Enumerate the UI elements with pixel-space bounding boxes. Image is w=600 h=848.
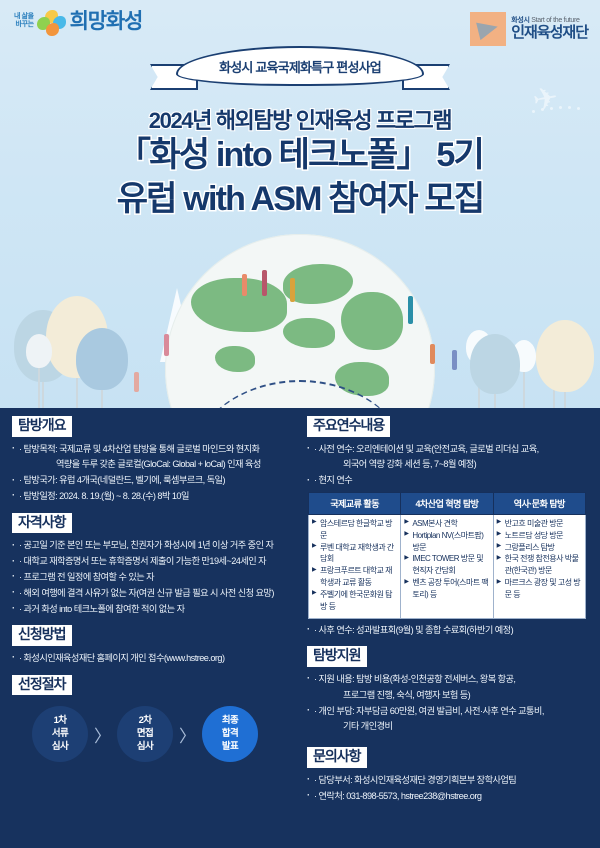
list-item: · 해외 여행에 결격 사유가 없는 자(여권 신규 발급 필요 시 사전 신청…: [12, 586, 293, 602]
poster-header: 내 삶을 바꾸는 희망화성 화성시 Start of the future 인재…: [0, 0, 600, 408]
process-step-3-line1: 최종: [222, 715, 238, 728]
section-heading-contact: 문의사항: [307, 747, 367, 768]
poster-title-block: 2024년 해외탐방 인재육성 프로그램 「화성 into 테크노폴」 5기 유…: [0, 108, 600, 220]
person-figure: [262, 270, 267, 296]
paper-plane-icon: [470, 12, 506, 46]
chevron-right-icon: 〉: [179, 722, 196, 747]
list-item: · 사후 연수: 성과발표회(9월) 및 종합 수료회(하반기 예정): [307, 623, 588, 639]
right-column: 주요연수내용 · 사전 연수: 오리엔테이션 및 교육(안전교육, 글로벌 리더…: [305, 414, 590, 806]
balloon-tree: [76, 328, 128, 408]
logo-left-kicker-line2: 바꾸는: [14, 21, 34, 29]
list-item: 암스테르담 한글학교 방문: [312, 518, 397, 542]
logo-right-org: 인재육성재단: [511, 25, 588, 42]
support-list: · 지원 내용: 탐방 비용(화성-인천공항 전세버스, 왕복 항공, 프로그램…: [305, 672, 590, 735]
logo-right-city: 화성시: [511, 17, 529, 24]
list-item: 프랑크푸르트 대학교 재학생과 교류 활동: [312, 565, 397, 589]
person-figure: [290, 278, 295, 302]
person-figure: [242, 274, 247, 296]
ribbon-banner: 화성시 교육국제화특구 편성사업: [150, 46, 450, 96]
title-line-1: 2024년 해외탐방 인재육성 프로그램: [0, 108, 600, 133]
process-step-1-line1: 1차: [54, 715, 67, 728]
list-item: 노트르담 성당 방문: [497, 530, 582, 542]
training-table: 국제교류 활동 4차산업 혁명 탐방 역사·문화 탐방 암스테르담 한글학교 방…: [308, 492, 586, 619]
list-item: · 개인 부담: 자부담금 60만원, 여권 발급비, 사전·사후 연수 교통비…: [307, 704, 588, 720]
person-figure: [164, 334, 169, 356]
list-item: 한국 전쟁 참전용사 박물관(한국관) 방문: [497, 553, 582, 577]
list-item: · 대학교 재학증명서 또는 휴학증명서 제출이 가능한 만19세~24세인 자: [12, 554, 293, 570]
table-header-row: 국제교류 활동 4차산업 혁명 탐방 역사·문화 탐방: [309, 492, 586, 514]
process-step-1-line2: 서류: [52, 728, 68, 741]
overview-list: · 탐방목적: 국제교류 및 4차산업 탐방을 통해 글로벌 마인드와 현지화 …: [10, 442, 295, 505]
logo-left-brand: 희망화성: [70, 11, 142, 32]
table-cell-exchange: 암스테르담 한글학교 방문 루벤 대학교 재학생과 간담회 프랑크푸르트 대학교…: [309, 514, 401, 618]
foundation-logo: 화성시 Start of the future 인재육성재단: [470, 12, 588, 46]
list-item: 역량을 두루 갖춘 글로컬(GloCal: Global + loCal) 인재…: [12, 457, 293, 473]
poster-body: 탐방개요 · 탐방목적: 국제교류 및 4차산업 탐방을 통해 글로벌 마인드와…: [0, 408, 600, 848]
list-item: · 프로그램 전 일정에 참여할 수 있는 자: [12, 570, 293, 586]
title-line-2: 「화성 into 테크노폴」 5기: [0, 135, 600, 176]
list-item: 외국어 역량 강화 세션 등, 7~8월 예정): [307, 457, 588, 473]
list-item: · 담당부서: 화성시인재육성재단 경영기획본부 장학사업팀: [307, 773, 588, 789]
list-item: · 탐방일정: 2024. 8. 19.(월) ~ 8. 28.(수) 8박 1…: [12, 489, 293, 505]
table-cell-culture: 반고흐 미술관 방문 노트르담 성당 방문 그랑플리스 탐방 한국 전쟁 참전용…: [493, 514, 585, 618]
table-cell-industry: ASM본사 견학 Hortiplan NV(스마트팜) 방문 IMEC TOWE…: [401, 514, 493, 618]
apply-list: · 화성시인재육성재단 홈페이지 개인 접수(www.hstree.org): [10, 651, 295, 667]
hwaseong-city-logo: 내 삶을 바꾸는 희망화성: [14, 10, 142, 32]
process-step-2-line3: 심사: [137, 741, 153, 754]
list-item: · 공고일 기준 본인 또는 부모님, 친권자가 화성시에 1년 이상 거주 중…: [12, 538, 293, 554]
logo-left-kicker-line1: 내 삶을: [14, 13, 34, 21]
left-column: 탐방개요 · 탐방목적: 국제교류 및 4차산업 탐방을 통해 글로벌 마인드와…: [10, 414, 295, 806]
table-header-cell: 역사·문화 탐방: [493, 492, 585, 514]
process-step-2: 2차 면접 심사: [117, 706, 173, 762]
list-item: · 탐방목적: 국제교류 및 4차산업 탐방을 통해 글로벌 마인드와 현지화: [12, 442, 293, 458]
process-step-3: 최종 합격 발표: [202, 706, 258, 762]
list-item: · 지원 내용: 탐방 비용(화성-인천공항 전세버스, 왕복 항공,: [307, 672, 588, 688]
balloon-tree: [26, 334, 52, 408]
person-figure: [430, 344, 435, 364]
contact-list: · 담당부서: 화성시인재육성재단 경영기획본부 장학사업팀 · 연락처: 03…: [305, 773, 590, 805]
process-step-2-line2: 면접: [137, 728, 153, 741]
list-item[interactable]: · 연락처: 031-898-5573, hstree238@hstree.or…: [307, 789, 588, 805]
logo-right-tagline: Start of the future: [531, 17, 579, 24]
selection-process-flow: 1차 서류 심사 〉 2차 면접 심사 〉 최종 합격 발표: [10, 700, 295, 762]
list-item: 그랑플리스 탐방: [497, 542, 582, 554]
section-heading-training: 주요연수내용: [307, 416, 390, 437]
list-item: 마르크스 광장 및 고성 방문 등: [497, 577, 582, 601]
list-item: 주벨기에 한국문화원 탐방 등: [312, 589, 397, 613]
section-heading-selection: 선정절차: [12, 675, 72, 696]
training-pre-list: · 사전 연수: 오리엔테이션 및 교육(안전교육, 글로벌 리더십 교육, 외…: [305, 442, 590, 489]
balloon-tree: [470, 334, 520, 408]
list-item: 기타 개인경비: [307, 719, 588, 735]
process-step-1: 1차 서류 심사: [32, 706, 88, 762]
list-item: ASM본사 견학: [404, 518, 489, 530]
process-step-3-line2: 합격: [222, 728, 238, 741]
list-item: Hortiplan NV(스마트팜) 방문: [404, 530, 489, 554]
ribbon-band: 화성시 교육국제화특구 편성사업: [176, 46, 424, 86]
ribbon-label: 화성시 교육국제화특구 편성사업: [219, 57, 381, 76]
person-figure: [408, 296, 413, 324]
process-step-1-line3: 심사: [52, 741, 68, 754]
list-item[interactable]: · 화성시인재육성재단 홈페이지 개인 접수(www.hstree.org): [12, 651, 293, 667]
list-item: · 현지 연수: [307, 473, 588, 489]
title-line-3: 유럽 with ASM 참여자 모집: [0, 179, 600, 220]
flower-icon: [37, 10, 67, 36]
list-item: 프로그램 진행, 숙식, 여행자 보험 등): [307, 688, 588, 704]
table-row: 암스테르담 한글학교 방문 루벤 대학교 재학생과 간담회 프랑크푸르트 대학교…: [309, 514, 586, 618]
qualification-list: · 공고일 기준 본인 또는 부모님, 친권자가 화성시에 1년 이상 거주 중…: [10, 538, 295, 617]
list-item: IMEC TOWER 방문 및 현직자 간담회: [404, 553, 489, 577]
logo-left-kicker: 내 삶을 바꾸는: [14, 13, 34, 32]
poster-root: 내 삶을 바꾸는 희망화성 화성시 Start of the future 인재…: [0, 0, 600, 848]
table-header-cell: 4차산업 혁명 탐방: [401, 492, 493, 514]
person-figure: [134, 372, 139, 392]
process-step-3-line3: 발표: [222, 741, 238, 754]
section-heading-apply: 신청방법: [12, 625, 72, 646]
globe-illustration: [0, 268, 600, 408]
list-item: · 사전 연수: 오리엔테이션 및 교육(안전교육, 글로벌 리더십 교육,: [307, 442, 588, 458]
person-figure: [452, 350, 457, 370]
list-item: 반고흐 미술관 방문: [497, 518, 582, 530]
list-item: 루벤 대학교 재학생과 간담회: [312, 542, 397, 566]
earth-globe-icon: [165, 234, 435, 408]
section-heading-overview: 탐방개요: [12, 416, 72, 437]
section-heading-qualification: 자격사항: [12, 513, 72, 534]
balloon-tree: [536, 320, 594, 408]
process-step-2-line1: 2차: [139, 715, 152, 728]
list-item: · 과거 화성 into 테크노폴에 참여한 적이 없는 자: [12, 602, 293, 618]
training-post-list: · 사후 연수: 성과발표회(9월) 및 종합 수료회(하반기 예정): [305, 623, 590, 639]
section-heading-support: 탐방지원: [307, 646, 367, 667]
list-item: · 탐방국가: 유럽 4개국(네덜란드, 벨기에, 룩셈부르크, 독일): [12, 473, 293, 489]
table-header-cell: 국제교류 활동: [309, 492, 401, 514]
chevron-right-icon: 〉: [94, 722, 111, 747]
list-item: 벤츠 공장 투어(스마트 팩토리) 등: [404, 577, 489, 601]
